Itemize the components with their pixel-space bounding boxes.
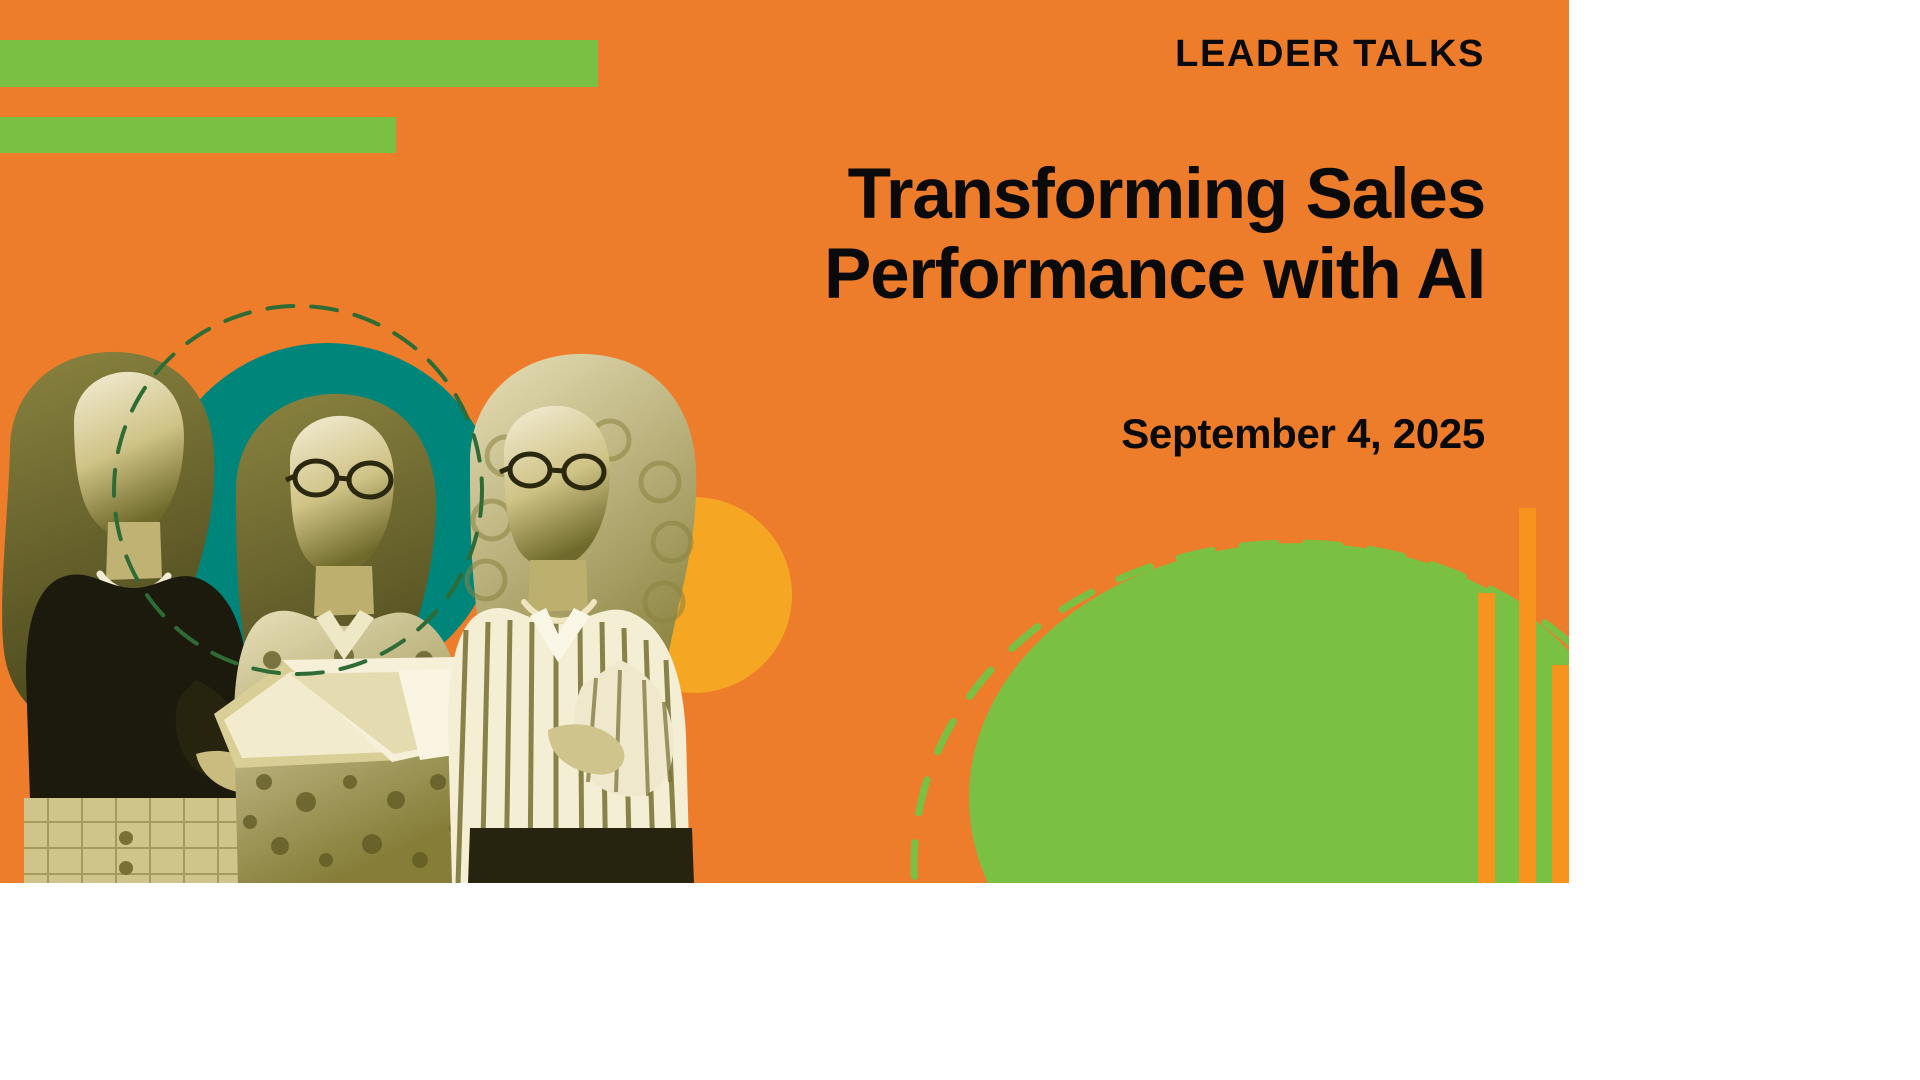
leader-talks-banner: LEADER TALKS Transforming Sales Performa… (0, 0, 1569, 883)
orange-vertical-bar-2 (1519, 508, 1536, 883)
dashed-circle-outline (108, 300, 488, 680)
green-bar-short (0, 117, 396, 153)
orange-vertical-bar-1 (1478, 593, 1495, 883)
dashed-arc-outline (899, 473, 1569, 883)
page-title: Transforming Sales Performance with AI (745, 155, 1485, 314)
eyebrow-label: LEADER TALKS (1175, 33, 1485, 76)
event-date: September 4, 2025 (1121, 410, 1485, 458)
orange-vertical-bar-3 (1552, 665, 1569, 883)
green-bar-long (0, 40, 598, 87)
